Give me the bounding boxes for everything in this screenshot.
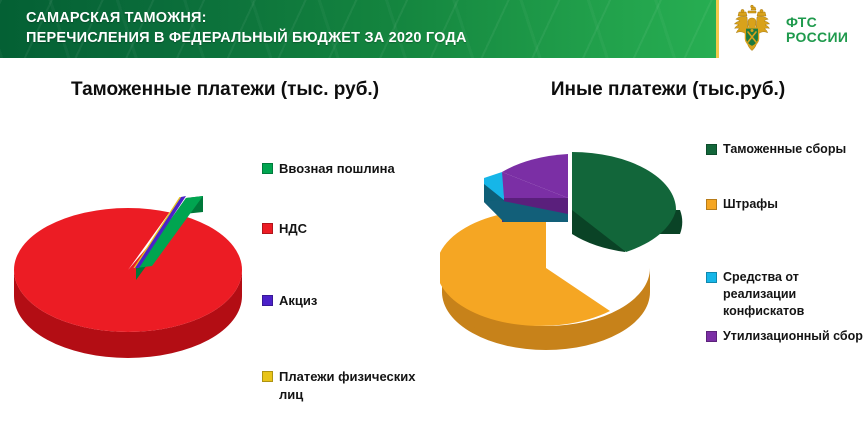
legend-swatch-akciz (262, 295, 273, 306)
legend-swatch-platezhi-fizicheskih-lic (262, 371, 273, 382)
legend-swatch-shtrafy (706, 199, 717, 210)
legend-label-utilizacionnyj-sbor: Утилизационный сбор (723, 328, 863, 345)
legend-item-shtrafy[interactable]: Штрафы (706, 196, 866, 213)
legend-label-platezhi-fizicheskih-lic: Платежи физических лиц (279, 368, 442, 404)
legend-item-platezhi-fizicheskih-lic[interactable]: Платежи физических лиц (262, 368, 442, 404)
legend-item-utilizacionnyj-sbor[interactable]: Утилизационный сбор (706, 328, 866, 345)
legend-label-nds: НДС (279, 220, 307, 238)
fts-logo-line2: РОССИИ (786, 30, 848, 45)
legend-swatch-tamozhennye-sbory (706, 144, 717, 155)
legend-swatch-nds (262, 223, 273, 234)
legend-swatch-sredstva-ot-realizacii-konfiskatov (706, 272, 717, 283)
legend-label-shtrafy: Штрафы (723, 196, 778, 213)
header-title-block: САМАРСКАЯ ТАМОЖНЯ: ПЕРЕЧИСЛЕНИЯ В ФЕДЕРА… (26, 8, 467, 48)
legend-label-akciz: Акциз (279, 292, 317, 310)
header-title-line2: ПЕРЕЧИСЛЕНИЯ В ФЕДЕРАЛЬНЫЙ БЮДЖЕТ ЗА 202… (26, 28, 467, 48)
legend-swatch-vvoznaya-poshlina (262, 163, 273, 174)
legend-item-sredstva-ot-realizacii-konfiskatov[interactable]: Средства от реализации конфискатов (706, 269, 866, 320)
right-chart-title: Иные платежи (тыс.руб.) (470, 76, 866, 103)
legend-item-tamozhennye-sbory[interactable]: Таможенные сборы (706, 141, 866, 158)
header-title-line1: САМАРСКАЯ ТАМОЖНЯ: (26, 8, 467, 28)
legend-item-vvoznaya-poshlina[interactable]: Ввозная пошлина (262, 160, 442, 178)
legend-item-akciz[interactable]: Акциз (262, 292, 442, 310)
legend-swatch-utilizacionnyj-sbor (706, 331, 717, 342)
russian-double-headed-eagle-emblem (726, 4, 778, 56)
banner-gold-edge (716, 0, 719, 58)
left-chart-legend: Ввозная пошлина НДС Акциз Платежи физиче… (262, 160, 442, 406)
fts-logo-text: ФТС РОССИИ (786, 15, 848, 45)
pie-slice-tamozhennye-sbory (572, 152, 676, 210)
fts-logo-line1: ФТС (786, 15, 848, 30)
legend-item-nds[interactable]: НДС (262, 220, 442, 238)
right-chart-legend: Таможенные сборы Штрафы Средства от реал… (706, 141, 866, 347)
left-chart-title: Таможенные платежи (тыс. руб.) (18, 76, 432, 103)
fts-logo: ФТС РОССИИ (726, 2, 862, 58)
legend-label-sredstva-ot-realizacii-konfiskatov: Средства от реализации конфискатов (723, 269, 866, 320)
legend-label-tamozhennye-sbory: Таможенные сборы (723, 141, 846, 158)
legend-label-vvoznaya-poshlina: Ввозная пошлина (279, 160, 395, 178)
